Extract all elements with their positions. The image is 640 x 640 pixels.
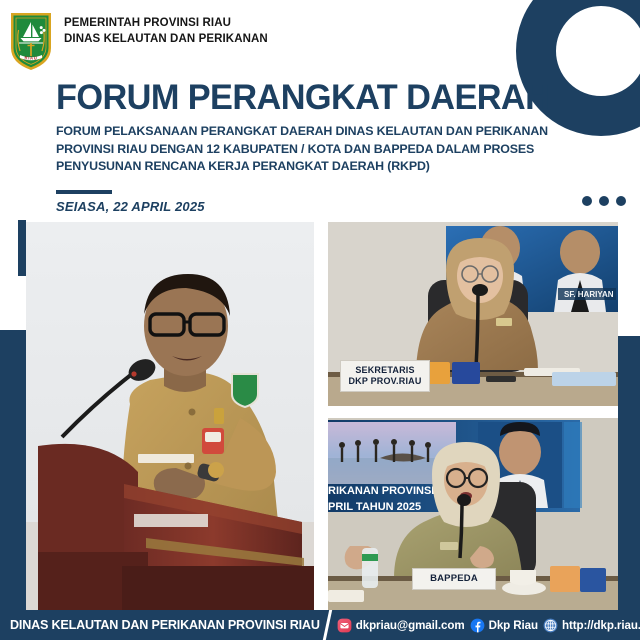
- contact-facebook[interactable]: Dkp Riau: [470, 618, 538, 633]
- dot-2: [599, 196, 609, 206]
- riau-province-crest-icon: RIAU: [8, 10, 54, 72]
- poster-canvas: RIAU PEMERINTAH PROVINSI RIAU DINAS KELA…: [0, 0, 640, 640]
- nameplate-sekretaris: SEKRETARIS DKP PROV.RIAU: [340, 360, 430, 392]
- nameplate-bappeda: BAPPEDA: [412, 568, 496, 590]
- photo-sekretaris-dkp: SF. HARIYAN: [328, 222, 618, 406]
- accent-bar-left: [0, 330, 26, 610]
- subtitle-line-2: PROVINSI RIAU DENGAN 12 KABUPATEN / KOTA…: [56, 141, 616, 159]
- organization-name: PEMERINTAH PROVINSI RIAU DINAS KELAUTAN …: [64, 10, 268, 47]
- footer-bar: DINAS KELAUTAN DAN PERIKANAN PROVINSI RI…: [0, 610, 640, 640]
- nameplate-bappeda-line-1: BAPPEDA: [430, 573, 478, 584]
- org-line-province: PEMERINTAH PROVINSI RIAU: [64, 16, 268, 32]
- globe-icon: [543, 618, 558, 633]
- org-line-department: DINAS KELAUTAN DAN PERIKANAN: [64, 32, 268, 48]
- contact-website[interactable]: http://dkp.riau.go.id: [543, 618, 640, 633]
- title-block: FORUM PERANGKAT DAERAH FORUM PELAKSANAAN…: [56, 80, 616, 214]
- contact-email-label: dkpriau@gmail.com: [356, 619, 465, 632]
- facebook-icon: [470, 618, 485, 633]
- subtitle-line-3: PENYUSUNAN RENCANA KERJA PERANGKAT DAERA…: [56, 158, 616, 176]
- poster-header: RIAU PEMERINTAH PROVINSI RIAU DINAS KELA…: [8, 10, 268, 72]
- photo-bappeda-speaker: RIKANAN PROVINSI RIAU PRIL TAHUN 2025: [328, 418, 618, 610]
- subtitle-line-1: FORUM PELAKSANAAN PERANGKAT DAERAH DINAS…: [56, 123, 616, 141]
- nameplate-sekretaris-line-2: DKP PROV.RIAU: [348, 376, 421, 387]
- footer-divider: [323, 610, 332, 640]
- contact-website-label: http://dkp.riau.go.id: [562, 619, 640, 632]
- title-divider: [56, 190, 112, 194]
- accent-bar-right: [618, 336, 640, 610]
- contact-email[interactable]: dkpriau@gmail.com: [337, 618, 465, 633]
- footer-contacts: dkpriau@gmail.com Dkp Riau: [337, 618, 640, 633]
- dot-3: [616, 196, 626, 206]
- dot-1: [582, 196, 592, 206]
- svg-text:SF. HARIYAN: SF. HARIYAN: [564, 290, 614, 299]
- nameplate-sekretaris-line-1: SEKRETARIS: [355, 365, 414, 376]
- event-date: SEIASA, 22 APRIL 2025: [56, 199, 616, 214]
- email-icon: [337, 618, 352, 633]
- decorative-dots: [582, 196, 626, 206]
- backdrop-text-line-2: PRIL TAHUN 2025: [328, 501, 421, 513]
- page-subtitle: FORUM PELAKSANAAN PERANGKAT DAERAH DINAS…: [56, 123, 616, 176]
- contact-facebook-label: Dkp Riau: [489, 619, 538, 632]
- page-title: FORUM PERANGKAT DAERAH: [56, 80, 605, 115]
- footer-organization: DINAS KELAUTAN DAN PERIKANAN PROVINSI RI…: [0, 618, 320, 632]
- svg-text:RIAU: RIAU: [24, 55, 37, 60]
- accent-bar-left-small: [18, 220, 26, 276]
- photo-speaker-at-podium: [26, 222, 314, 610]
